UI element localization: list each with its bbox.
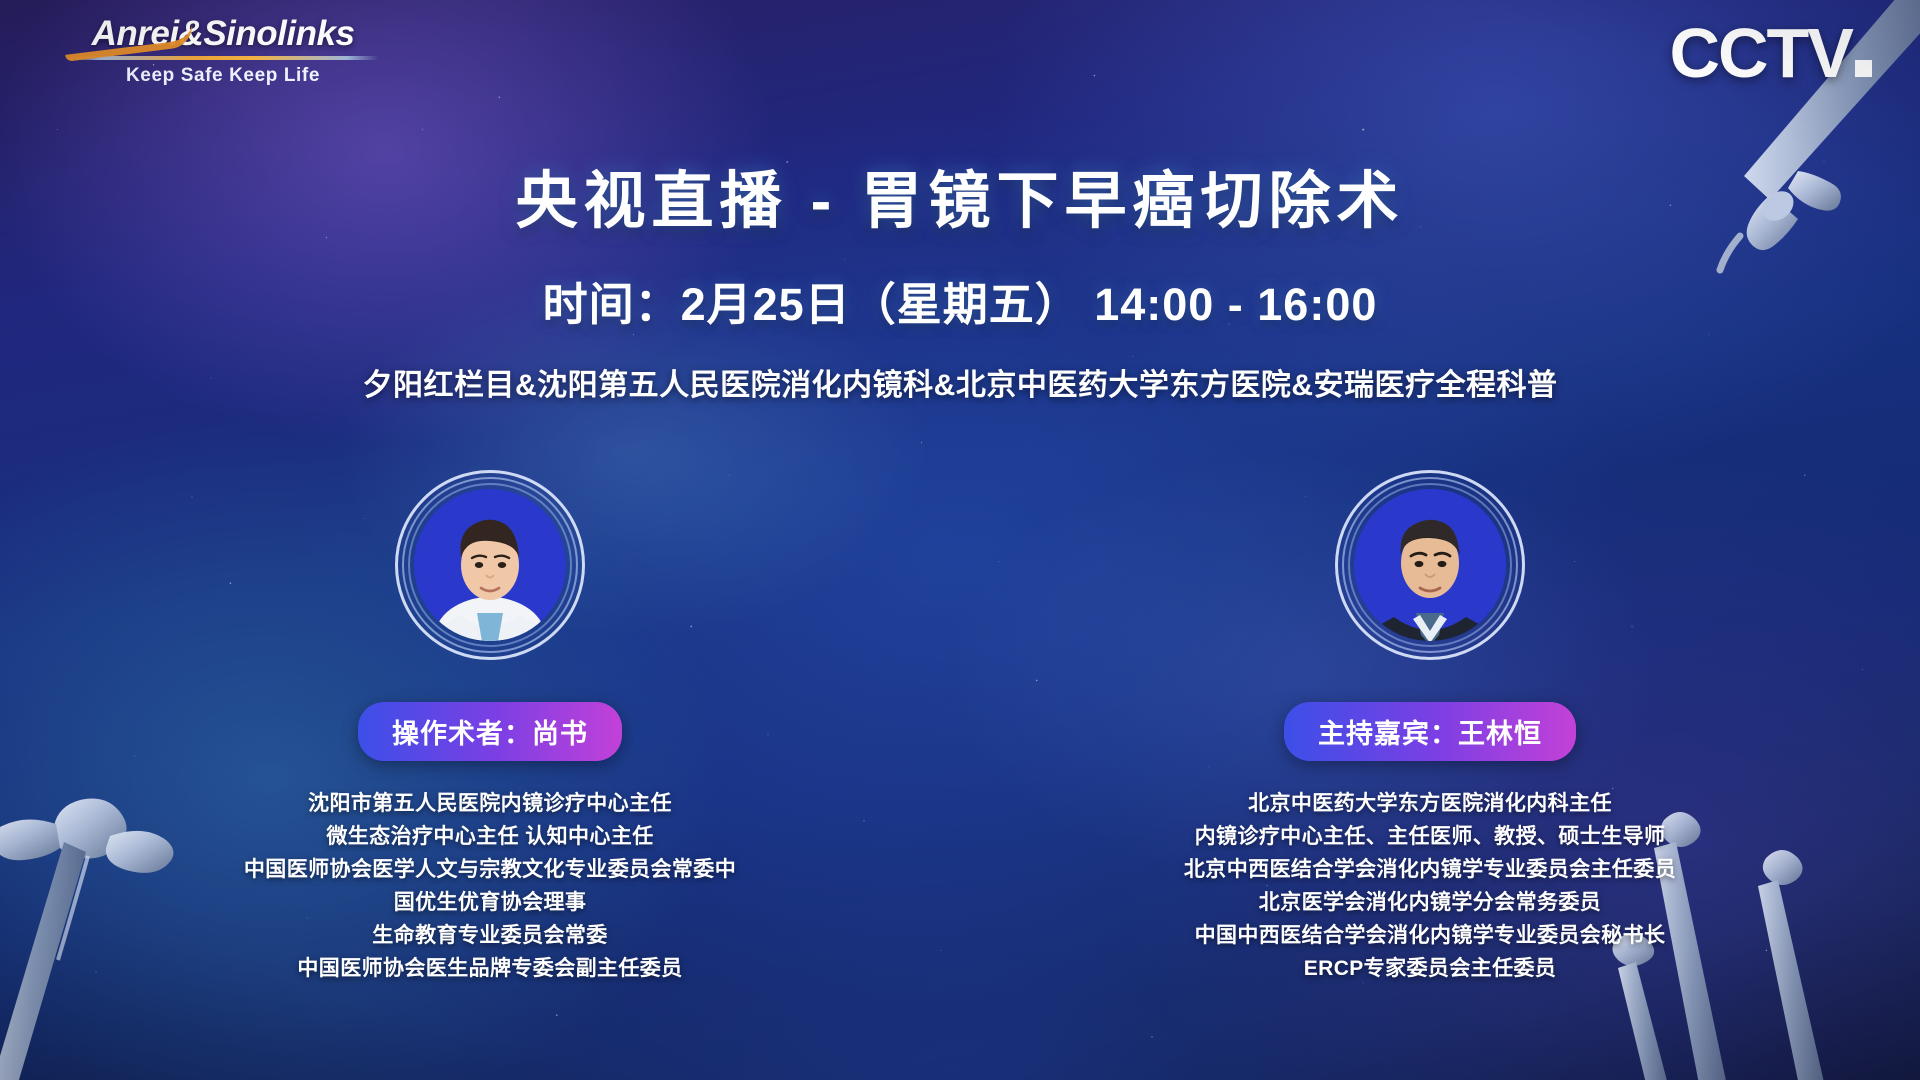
presenter-host: 主持嘉宾：王林恒 北京中医药大学东方医院消化内科主任 内镜诊疗中心主任、主任医师… <box>1170 470 1690 985</box>
credentials-operator: 沈阳市第五人民医院内镜诊疗中心主任 微生态治疗中心主任 认知中心主任 中国医师协… <box>244 787 736 985</box>
organizers-line: 夕阳红栏目&沈阳第五人民医院消化内镜科&北京中医药大学东方医院&安瑞医疗全程科普 <box>0 360 1920 404</box>
credential-line: 北京中西医结合学会消化内镜学专业委员会主任委员 <box>1184 853 1676 886</box>
anrei-divider <box>68 56 378 60</box>
credentials-host: 北京中医药大学东方医院消化内科主任 内镜诊疗中心主任、主任医师、教授、硕士生导师… <box>1184 787 1676 985</box>
poster-canvas: Anrei&Sinolinks Keep Safe Keep Life CCTV… <box>0 0 1920 1080</box>
avatar <box>395 470 585 660</box>
presenter-badge-operator: 操作术者：尚书 <box>358 702 622 761</box>
anrei-tagline: Keep Safe Keep Life <box>68 65 378 87</box>
credential-line: 内镜诊疗中心主任、主任医师、教授、硕士生导师 <box>1184 820 1676 853</box>
credential-line: 国优生优育协会理事 <box>244 886 736 919</box>
event-time: 时间：2月25日（星期五） 14:00 - 16:00 <box>0 268 1920 333</box>
credential-line: 微生态治疗中心主任 认知中心主任 <box>244 820 736 853</box>
cctv-dot-icon <box>1855 60 1872 77</box>
portrait-illustration-host <box>1354 489 1506 641</box>
presenter-operator: 操作术者：尚书 沈阳市第五人民医院内镜诊疗中心主任 微生态治疗中心主任 认知中心… <box>230 470 750 985</box>
cctv-wordmark: CCTV <box>1669 14 1852 92</box>
credential-line: 中国中西医结合学会消化内镜学专业委员会秘书长 <box>1184 919 1676 952</box>
avatar-photo-host <box>1354 489 1506 641</box>
credential-line: 北京中医药大学东方医院消化内科主任 <box>1184 787 1676 820</box>
page-title: 央视直播 - 胃镜下早癌切除术 <box>0 150 1920 240</box>
presenters-row: 操作术者：尚书 沈阳市第五人民医院内镜诊疗中心主任 微生态治疗中心主任 认知中心… <box>0 470 1920 985</box>
credential-line: 生命教育专业委员会常委 <box>244 919 736 952</box>
credential-line: 沈阳市第五人民医院内镜诊疗中心主任 <box>244 787 736 820</box>
avatar-photo-operator <box>414 489 566 641</box>
credential-line: 中国医师协会医生品牌专委会副主任委员 <box>244 952 736 985</box>
credential-line: 北京医学会消化内镜学分会常务委员 <box>1184 886 1676 919</box>
portrait-illustration-operator <box>414 489 566 641</box>
avatar <box>1335 470 1525 660</box>
cctv-logo: CCTV <box>1669 18 1872 88</box>
credential-line: 中国医师协会医学人文与宗教文化专业委员会常委中 <box>244 853 736 886</box>
anrei-sinolinks-logo: Anrei&Sinolinks Keep Safe Keep Life <box>68 16 378 87</box>
presenter-badge-host: 主持嘉宾：王林恒 <box>1284 702 1576 761</box>
credential-line: ERCP专家委员会主任委员 <box>1184 952 1676 985</box>
